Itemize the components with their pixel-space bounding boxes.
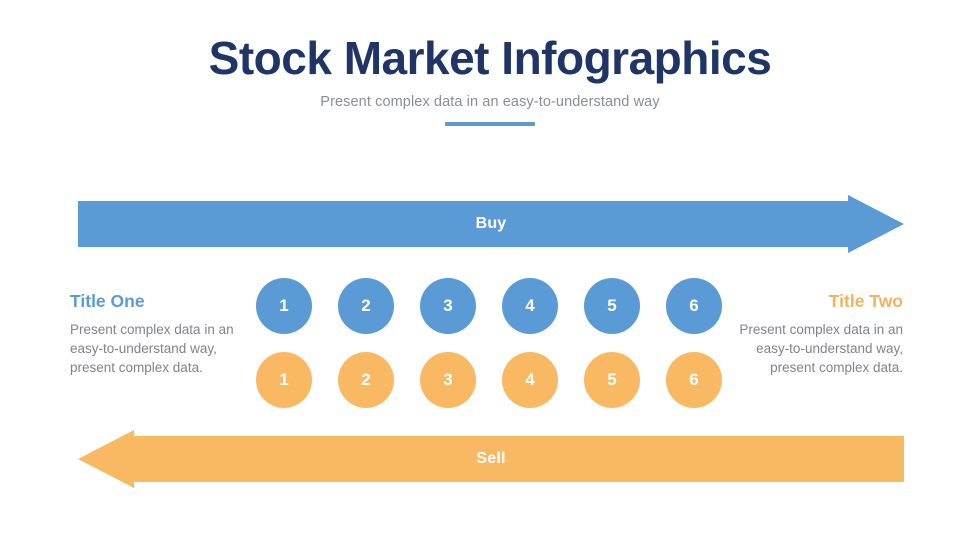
page-title: Stock Market Infographics (0, 34, 980, 82)
title-divider (445, 122, 535, 126)
page-subtitle: Present complex data in an easy-to-under… (0, 94, 980, 110)
orange-circle-6-label: 6 (689, 370, 698, 390)
left-block-title: Title One (70, 292, 250, 311)
orange-circle-5-label: 5 (607, 370, 616, 390)
orange-circle-1-label: 1 (279, 370, 288, 390)
blue-circle-row: 1 2 3 4 5 6 (256, 278, 722, 334)
sell-arrow[interactable]: Sell (78, 430, 904, 488)
header: Stock Market Infographics Present comple… (0, 34, 980, 126)
orange-circle-row: 1 2 3 4 5 6 (256, 352, 722, 408)
left-block-body: Present complex data in an easy-to-under… (70, 321, 250, 377)
blue-circle-1[interactable]: 1 (256, 278, 312, 334)
blue-circle-1-label: 1 (279, 296, 288, 316)
orange-circle-2[interactable]: 2 (338, 352, 394, 408)
blue-circle-2-label: 2 (361, 296, 370, 316)
orange-circle-4-label: 4 (525, 370, 534, 390)
blue-circle-6[interactable]: 6 (666, 278, 722, 334)
orange-circle-3-label: 3 (443, 370, 452, 390)
orange-circle-6[interactable]: 6 (666, 352, 722, 408)
left-text-block: Title One Present complex data in an eas… (70, 292, 250, 377)
orange-circle-2-label: 2 (361, 370, 370, 390)
blue-circle-5-label: 5 (607, 296, 616, 316)
orange-circle-4[interactable]: 4 (502, 352, 558, 408)
blue-circle-4[interactable]: 4 (502, 278, 558, 334)
blue-circle-5[interactable]: 5 (584, 278, 640, 334)
right-block-body: Present complex data in an easy-to-under… (723, 321, 903, 377)
sell-arrow-label: Sell (78, 430, 904, 488)
buy-arrow[interactable]: Buy (78, 195, 904, 253)
infographic-slide: Stock Market Infographics Present comple… (0, 0, 980, 551)
blue-circle-3-label: 3 (443, 296, 452, 316)
blue-circle-2[interactable]: 2 (338, 278, 394, 334)
blue-circle-6-label: 6 (689, 296, 698, 316)
right-block-title: Title Two (723, 292, 903, 311)
orange-circle-5[interactable]: 5 (584, 352, 640, 408)
orange-circle-3[interactable]: 3 (420, 352, 476, 408)
blue-circle-3[interactable]: 3 (420, 278, 476, 334)
blue-circle-4-label: 4 (525, 296, 534, 316)
buy-arrow-label: Buy (78, 195, 904, 253)
orange-circle-1[interactable]: 1 (256, 352, 312, 408)
right-text-block: Title Two Present complex data in an eas… (723, 292, 903, 377)
